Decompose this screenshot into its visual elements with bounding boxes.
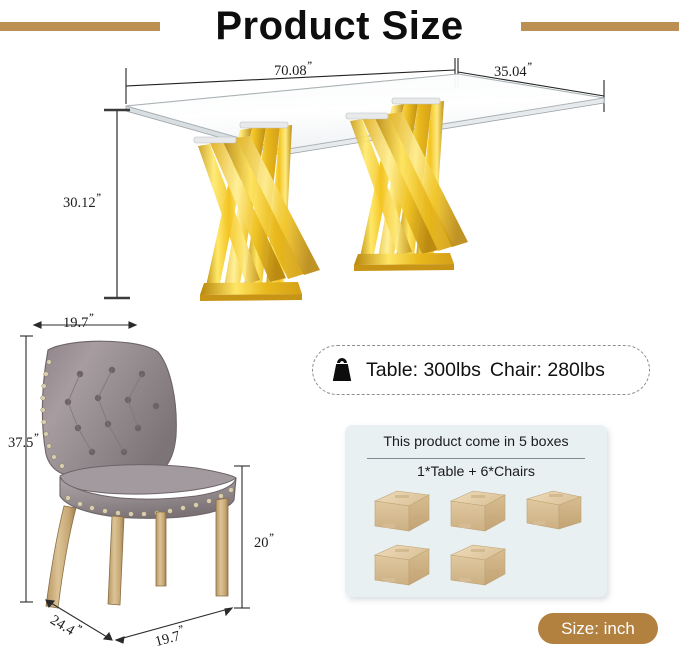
cardboard-box-icon	[447, 543, 509, 589]
chair-drawing	[20, 318, 320, 648]
table-drawing	[100, 58, 679, 308]
cardboard-box-icon	[371, 543, 433, 589]
dimension-label-chair-height: 37.5’’	[8, 430, 38, 452]
dimension-line-chair-seat-height	[234, 466, 250, 608]
chair-leg-front-left	[46, 506, 76, 608]
packaging-panel: This product come in 5 boxes 1*Table + 6…	[345, 425, 607, 597]
table-illustration: 70.08’’ 35.04’’	[100, 58, 679, 308]
cardboard-box-icon	[371, 489, 433, 535]
dimension-label-table-width: 70.08’’	[274, 58, 312, 80]
packaging-box-grid	[371, 489, 585, 589]
product-size-infographic: Product Size	[0, 0, 679, 656]
chair-capacity-label: Chair: 280lbs	[490, 359, 605, 381]
weight-icon	[327, 355, 357, 385]
size-unit-badge: Size: inch	[538, 613, 658, 644]
packaging-divider	[367, 458, 585, 459]
dimension-line-table-height	[104, 105, 130, 305]
chair-seat-top	[60, 465, 236, 494]
weight-capacity-text: Table: 300lbsChair: 280lbs	[366, 359, 605, 382]
chair-leg-rear-right	[216, 498, 228, 596]
size-unit-label: Size: inch	[561, 619, 635, 639]
chair-backrest	[42, 341, 176, 478]
dimension-label-chair-width-top: 19.7’’	[63, 310, 93, 332]
chair-illustration: 19.7’’ 20’’ 24.4’’ 19.7’’	[20, 318, 320, 648]
chair-leg-rear-left	[156, 512, 166, 586]
packaging-subtitle: 1*Table + 6*Chairs	[345, 464, 607, 480]
dimension-line-chair-height	[20, 336, 33, 602]
header: Product Size	[0, 0, 679, 52]
chair-leg-front-right	[108, 516, 124, 605]
cardboard-box-icon	[523, 489, 585, 535]
dimension-label-table-depth: 35.04’’	[494, 59, 532, 81]
weight-capacity-badge: Table: 300lbsChair: 280lbs	[312, 345, 650, 395]
dimension-label-table-height: 30.12’’	[63, 190, 101, 212]
header-rule-right	[521, 22, 679, 31]
table-capacity-label: Table: 300lbs	[366, 359, 481, 381]
dimension-label-chair-seat-height: 20’’	[254, 530, 274, 552]
packaging-title: This product come in 5 boxes	[345, 434, 607, 450]
cardboard-box-icon	[447, 489, 509, 535]
